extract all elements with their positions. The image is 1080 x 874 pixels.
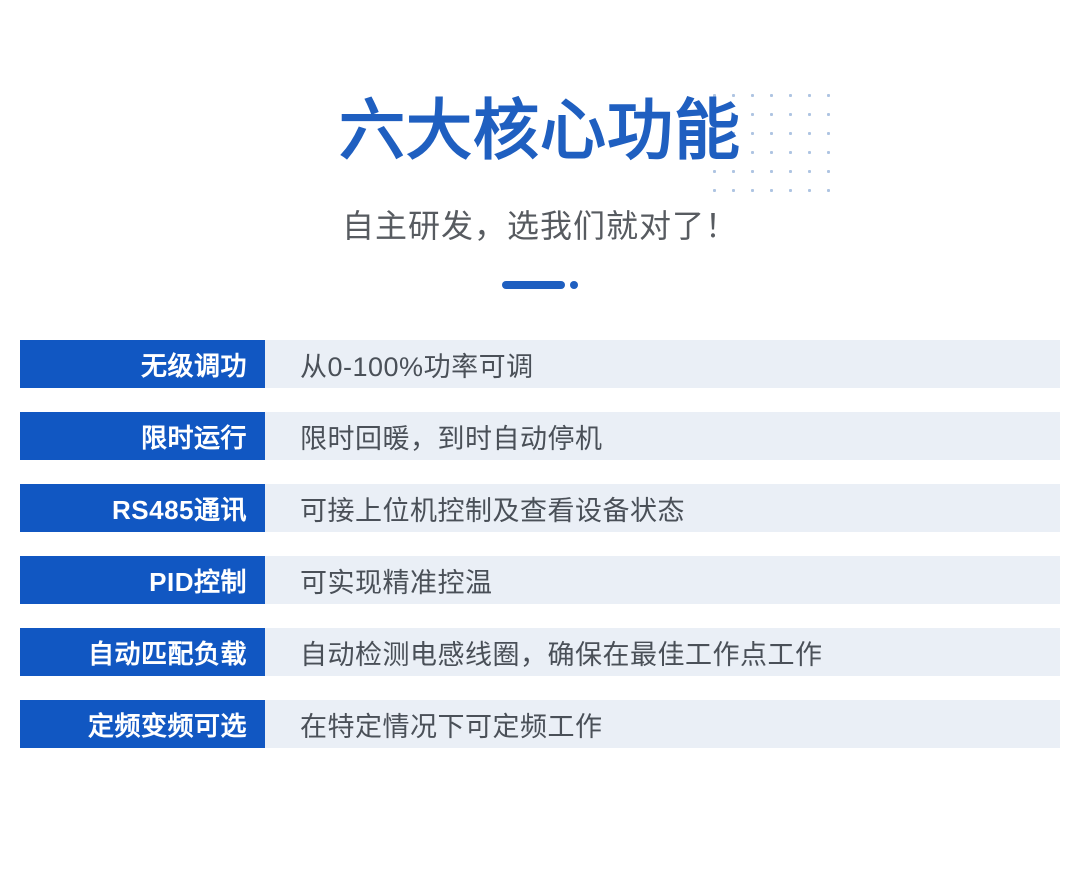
promo-feature-page: 六大核心功能 自主研发，选我们就对了！ 无级调功 从0-100%功率可调 限时运… [0,0,1080,874]
divider-bar-icon [502,281,565,289]
feature-description: 可实现精准控温 [265,556,1060,604]
feature-row-timed-operation: 限时运行 限时回暖，到时自动停机 [20,412,1060,460]
feature-label: 限时运行 [20,412,265,460]
feature-label: PID控制 [20,556,265,604]
page-header: 六大核心功能 自主研发，选我们就对了！ [0,0,1080,320]
feature-row-rs485: RS485通讯 可接上位机控制及查看设备状态 [20,484,1060,532]
feature-label: RS485通讯 [20,484,265,532]
divider-dot-icon [570,281,578,289]
feature-list: 无级调功 从0-100%功率可调 限时运行 限时回暖，到时自动停机 RS485通… [20,340,1060,748]
feature-description: 自动检测电感线圈，确保在最佳工作点工作 [265,628,1060,676]
feature-description: 从0-100%功率可调 [265,340,1060,388]
feature-description: 限时回暖，到时自动停机 [265,412,1060,460]
feature-description: 在特定情况下可定频工作 [265,700,1060,748]
feature-row-auto-load-matching: 自动匹配负载 自动检测电感线圈，确保在最佳工作点工作 [20,628,1060,676]
feature-label: 定频变频可选 [20,700,265,748]
feature-row-fixed-variable-frequency: 定频变频可选 在特定情况下可定频工作 [20,700,1060,748]
feature-row-stepless-power: 无级调功 从0-100%功率可调 [20,340,1060,388]
feature-label: 自动匹配负载 [20,628,265,676]
page-title: 六大核心功能 [0,92,1080,168]
page-subtitle: 自主研发，选我们就对了！ [0,204,1080,248]
feature-row-pid-control: PID控制 可实现精准控温 [20,556,1060,604]
title-divider [0,278,1080,292]
feature-description: 可接上位机控制及查看设备状态 [265,484,1060,532]
feature-label: 无级调功 [20,340,265,388]
